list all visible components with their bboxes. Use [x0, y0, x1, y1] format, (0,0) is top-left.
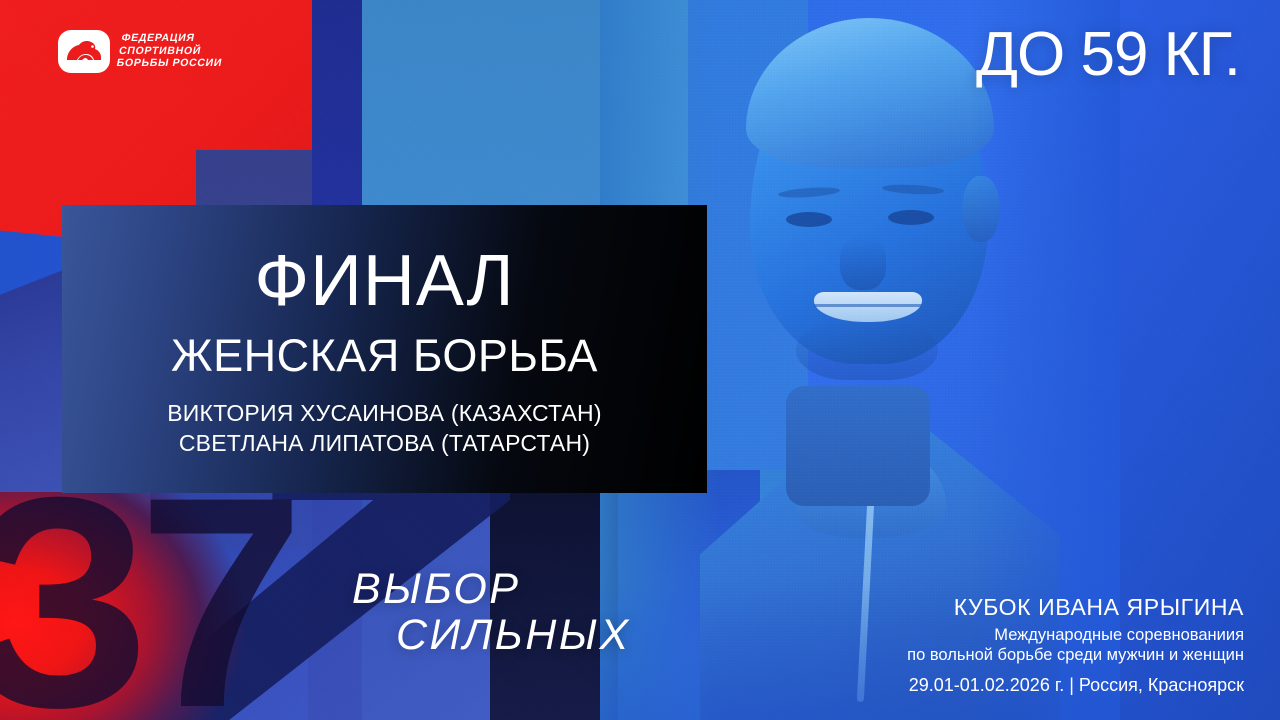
federation-logo[interactable]: ФЕДЕРАЦИЯ СПОРТИВНОЙ БОРЬБЫ РОССИИ — [58, 30, 224, 73]
broadcast-lower-third-graphic: З7 ФЕДЕРАЦИЯ — [0, 0, 1280, 720]
athlete-1-name: ВИКТОРИЯ ХУСАИНОВА (КАЗАХСТАН) — [167, 398, 601, 428]
slogan-line-1: ВЫБОР — [352, 566, 631, 612]
federation-name-line-2: СПОРТИВНОЙ — [118, 46, 226, 58]
event-title: КУБОК ИВАНА ЯРЫГИНА — [907, 593, 1244, 621]
event-dates-location: 29.01-01.02.2026 г. | Россия, Красноярск — [907, 674, 1244, 696]
event-subtitle-2: по вольной борьбе среди мужчин и женщин — [907, 645, 1244, 665]
federation-name-line-1: ФЕДЕРАЦИЯ — [120, 33, 228, 45]
event-slogan: ВЫБОР СИЛЬНЫХ — [352, 566, 631, 658]
wrestler-bear-logo-icon — [58, 30, 110, 73]
bout-info-panel: ФИНАЛ ЖЕНСКАЯ БОРЬБА ВИКТОРИЯ ХУСАИНОВА … — [62, 205, 707, 493]
event-info: КУБОК ИВАНА ЯРЫГИНА Международные соревн… — [907, 593, 1244, 696]
federation-name: ФЕДЕРАЦИЯ СПОРТИВНОЙ БОРЬБЫ РОССИИ — [115, 33, 228, 70]
weight-class-label: ДО 59 КГ. — [976, 24, 1240, 86]
event-subtitle-1: Международные соревнованиия — [907, 625, 1244, 645]
athlete-2-name: СВЕТЛАНА ЛИПАТОВА (ТАТАРСТАН) — [179, 428, 590, 458]
federation-name-line-3: БОРЬБЫ РОССИИ — [115, 58, 223, 70]
bout-discipline-label: ЖЕНСКАЯ БОРЬБА — [171, 333, 598, 378]
bout-stage-label: ФИНАЛ — [254, 245, 514, 317]
slogan-line-2: СИЛЬНЫХ — [396, 612, 631, 658]
